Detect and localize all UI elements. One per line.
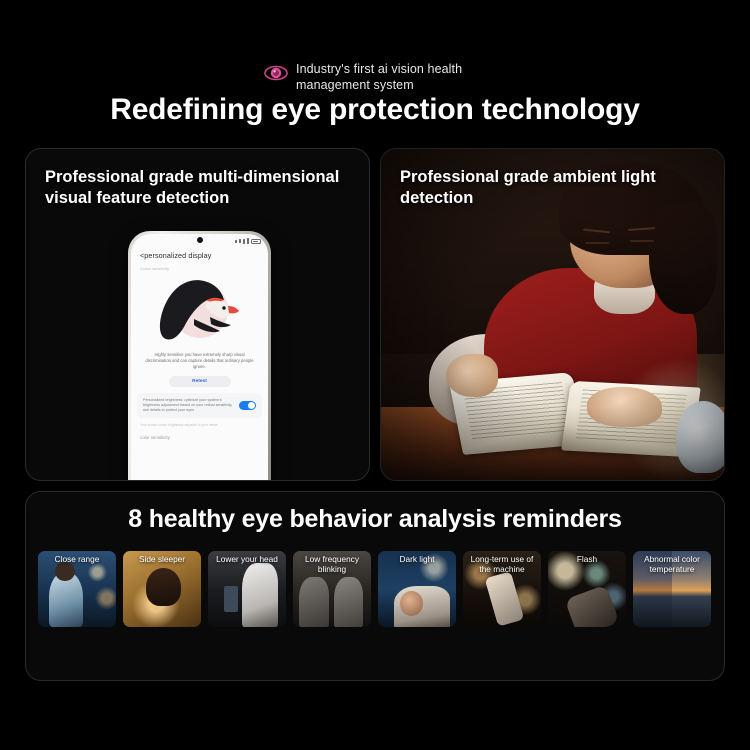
eagle-bird-illustration <box>131 271 268 349</box>
status-icons <box>235 238 261 244</box>
photo-hand-left <box>446 354 497 397</box>
tile-label: Long-term use of the machine <box>463 554 541 574</box>
eyebrow: Industry's first ai vision health manage… <box>0 62 750 93</box>
tile-label: Flash <box>548 554 626 564</box>
phone-note-text: Your screen colour brightness adjusted t… <box>131 418 268 428</box>
tile-label: Side sleeper <box>123 554 201 564</box>
page-title: Redefining eye protection technology <box>0 93 750 127</box>
phone-status-bar <box>131 234 268 247</box>
eagle-icon <box>154 273 246 347</box>
retest-button[interactable]: Retest <box>169 376 231 387</box>
phone-result-description: Highly sensitive you have extremely shar… <box>131 349 268 370</box>
photo-hair-back <box>649 202 718 315</box>
reminder-tile-low-frequency-blinking[interactable]: Low frequency blinking <box>293 551 371 627</box>
battery-icon <box>251 239 261 244</box>
card-title: Professional grade ambient light detecti… <box>400 167 724 208</box>
feature-cards-row: Professional grade multi-dimensional vis… <box>25 148 725 481</box>
card-title: Professional grade multi-dimensional vis… <box>45 167 369 208</box>
photo-desk-lamp <box>676 401 725 474</box>
reminder-tile-flash[interactable]: Flash <box>548 551 626 627</box>
reminder-tile-close-range[interactable]: Close range <box>38 551 116 627</box>
reminder-tile-side-sleeper[interactable]: Side sleeper <box>123 551 201 627</box>
signal-icon <box>239 239 241 243</box>
reminder-tile-lower-your-head[interactable]: Lower your head <box>208 551 286 627</box>
reminder-tile-dark-light[interactable]: Dark light <box>378 551 456 627</box>
card-behavior-reminders: 8 healthy eye behavior analysis reminder… <box>25 491 725 681</box>
wifi-icon <box>243 239 245 244</box>
tile-label: Low frequency blinking <box>293 554 371 574</box>
card-visual-feature-detection[interactable]: Professional grade multi-dimensional vis… <box>25 148 370 481</box>
phone-section-label: Colour sensitivity <box>131 263 268 271</box>
personalized-brightness-row[interactable]: Personalized brightness: optimize your s… <box>137 393 262 418</box>
reminder-tile-long-term-use[interactable]: Long-term use of the machine <box>463 551 541 627</box>
reminder-tiles: Close range Side sleeper Lower your head… <box>38 551 714 627</box>
eye-icon <box>264 64 288 82</box>
camera-punchhole-icon <box>197 237 203 243</box>
phone-mockup: <personalized display Colour sensitivity <box>128 231 271 481</box>
photo-eye-left <box>585 242 609 244</box>
personalized-brightness-label: Personalized brightness: optimize your s… <box>143 398 234 413</box>
behavior-reminders-title: 8 healthy eye behavior analysis reminder… <box>26 505 724 534</box>
card-ambient-light-detection[interactable]: Professional grade ambient light detecti… <box>380 148 725 481</box>
tile-label: Lower your head <box>208 554 286 564</box>
signal-icon <box>235 240 237 243</box>
personalized-brightness-toggle[interactable] <box>239 401 256 411</box>
promo-page: Industry's first ai vision health manage… <box>0 0 750 750</box>
reminder-tile-abnormal-color-temperature[interactable]: Abnormal color temperature <box>633 551 711 627</box>
wifi-icon <box>247 238 249 244</box>
phone-screen: <personalized display Colour sensitivity <box>131 234 268 481</box>
tile-label: Dark light <box>378 554 456 564</box>
phone-nav-title[interactable]: <personalized display <box>131 247 268 263</box>
tile-label: Close range <box>38 554 116 564</box>
eyebrow-text: Industry's first ai vision health manage… <box>296 62 486 93</box>
phone-footer-label: color sensitivity <box>131 428 268 440</box>
tile-label: Abnormal color temperature <box>633 554 711 574</box>
